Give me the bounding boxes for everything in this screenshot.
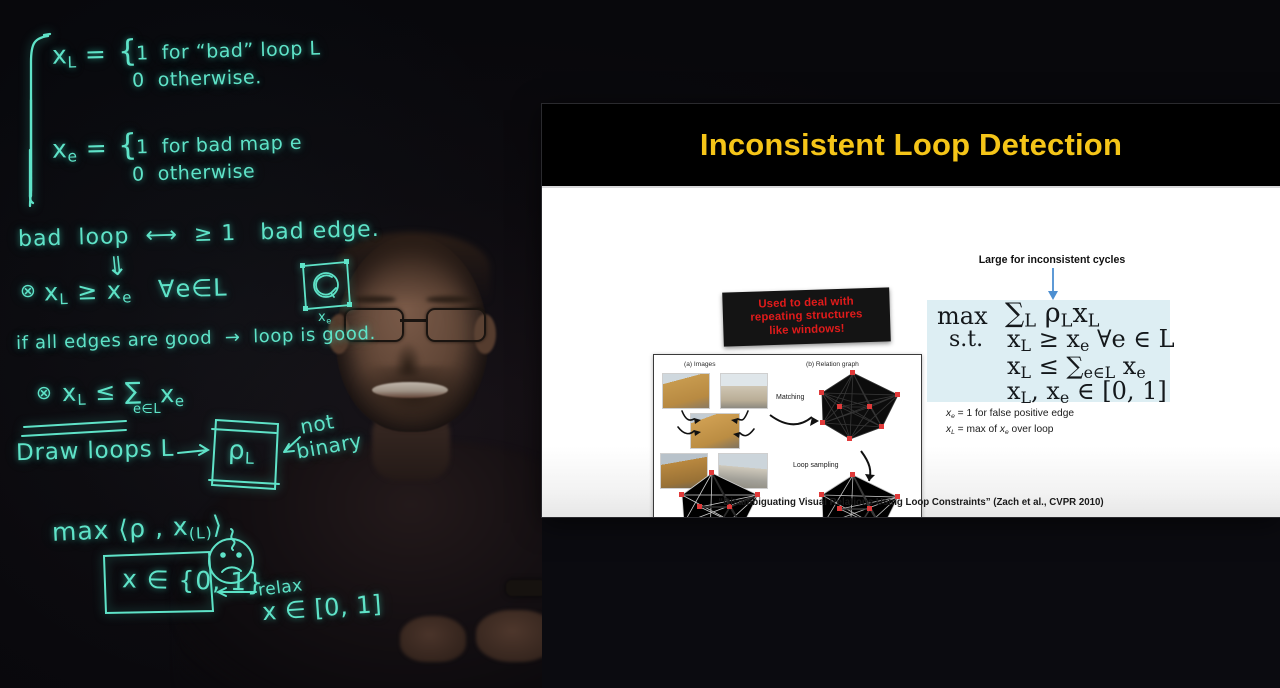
presentation-slide[interactable]: Inconsistent Loop Detection Used to deal… — [542, 104, 1280, 517]
figure-graphs: Matching Loop sampling — [654, 355, 921, 517]
binary-constraint: x ∈ {0, 1} — [122, 564, 265, 596]
slide-citation: “Disambiguating Visual Relations Using L… — [542, 497, 1280, 508]
math-expr-domain: xL, xe ∈ [0, 1] — [1007, 377, 1167, 407]
math-expr-constraint-1: xL ≥ xe ∀e ∈ L — [1007, 325, 1175, 355]
callout-text: Used to deal with repeating structures l… — [722, 287, 891, 346]
slide-bottom-strip — [542, 517, 1280, 688]
slide-body: Used to deal with repeating structures l… — [542, 186, 1280, 517]
paper-figure: (a) Images (b) Relation graph (c) Error … — [653, 354, 922, 517]
callout-line-3: like windows! — [769, 322, 845, 338]
math-note-xL: xL = max of xe over loop — [946, 424, 1053, 436]
math-note-xe: xe = 1 for false positive edge — [946, 408, 1074, 420]
callout-box: Used to deal with repeating structures l… — [722, 287, 891, 346]
optimization-problem-box: max ∑L ρLxL s.t. xL ≥ xe ∀e ∈ L xL ≤ ∑e∈… — [927, 300, 1170, 402]
svg-text:Matching: Matching — [776, 394, 805, 401]
svg-text:Loop sampling: Loop sampling — [793, 462, 839, 469]
math-annotation: Large for inconsistent cycles — [937, 254, 1167, 266]
math-label-max: max — [937, 302, 988, 330]
video-frame: xL = { 1 for “bad” loop L 0 otherwise. x… — [0, 0, 1280, 688]
slide-title-bar: Inconsistent Loop Detection — [542, 104, 1280, 186]
math-label-st: s.t. — [949, 327, 983, 352]
slide-title: Inconsistent Loop Detection — [542, 127, 1280, 163]
annotation-arrow-icon — [1045, 268, 1061, 302]
